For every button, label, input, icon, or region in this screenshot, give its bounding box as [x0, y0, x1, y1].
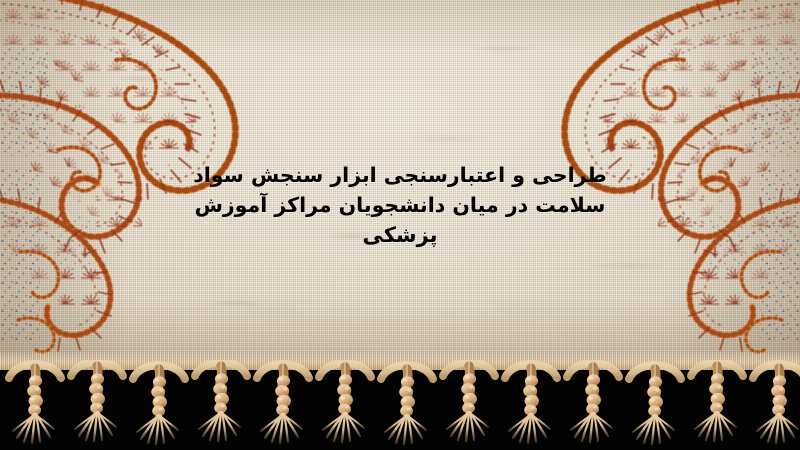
title-line-3: پزشکی	[150, 220, 650, 250]
presentation-title-slide: طراحی و اعتبارسنجی ابزار سنجش سواد سلامت…	[0, 0, 800, 450]
title-line-1: طراحی و اعتبارسنجی ابزار سنجش سواد	[150, 160, 650, 190]
lower-black-field	[0, 366, 800, 450]
slide-title: طراحی و اعتبارسنجی ابزار سنجش سواد سلامت…	[150, 160, 650, 250]
fabric-hem-selvedge	[0, 352, 800, 370]
hem-weave-texture	[0, 352, 800, 370]
title-line-2: سلامت در میان دانشجویان مراکز آموزش	[150, 190, 650, 220]
blue-accent-specks	[0, 46, 90, 340]
